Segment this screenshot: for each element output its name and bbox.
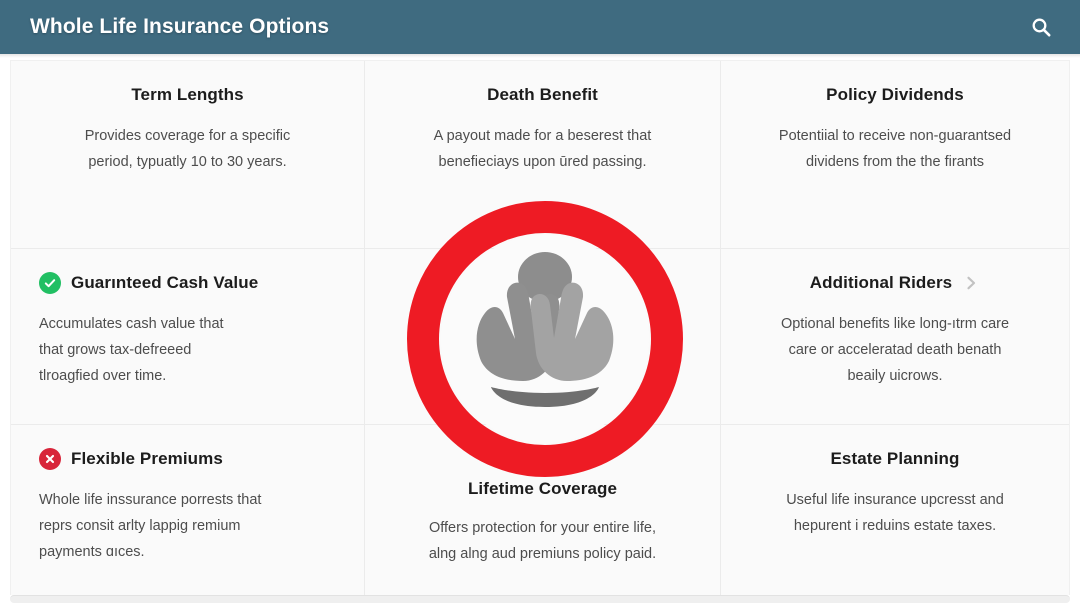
cell-title: Estate Planning <box>830 449 959 469</box>
description-line: benefieciays upon ūred passing. <box>393 149 692 175</box>
cell-description: Whole life inssurance porrests that repr… <box>39 487 336 565</box>
description-line: dividens from the the firants <box>749 149 1041 175</box>
cell-title: Term Lengths <box>131 85 243 105</box>
cell-description: Optional benefits like long-ıtrm care ca… <box>749 311 1041 389</box>
description-line: Provides coverage for a specific <box>39 123 336 149</box>
chevron-right-icon[interactable] <box>962 274 980 292</box>
cell-header: Estate Planning <box>749 447 1041 471</box>
cell-title: Flexible Premiums <box>71 449 223 469</box>
description-line: period, typuatly 10 to 30 years. <box>39 149 336 175</box>
grid-cell-term-lengths[interactable]: Term Lengths Provides coverage for a spe… <box>11 61 365 249</box>
description-line: A payout made for a beserest that <box>393 123 692 149</box>
cell-description: Offers protection for your entire life, … <box>393 515 692 567</box>
cell-header: Guarınteed Cash Value <box>39 271 336 295</box>
cell-header: Lifetime Coverage <box>393 477 692 501</box>
cell-description: Provides coverage for a specific period,… <box>39 123 336 175</box>
header-shadow <box>0 54 1080 58</box>
grid-cell-additional-riders[interactable]: Additional Riders Optional benefits like… <box>721 249 1069 425</box>
cell-header: Policy Dividends <box>749 83 1041 107</box>
grid-cell-guaranteed-cash-value[interactable]: Guarınteed Cash Value Accumulates cash v… <box>11 249 365 425</box>
description-line: alng alng aud premiuns policy paid. <box>393 541 692 567</box>
app-header: Whole Life Insurance Options <box>0 0 1080 54</box>
description-line: Useful life insurance upcresst and <box>749 487 1041 513</box>
grid-cell-lifetime-coverage[interactable]: Lifetime Coverage Offers protection for … <box>365 425 721 595</box>
cell-description: Accumulates cash value that that grows t… <box>39 311 336 389</box>
cell-header: Flexible Premiums <box>39 447 336 471</box>
cell-header: Term Lengths <box>39 83 336 107</box>
grid-cell-policy-dividends[interactable]: Policy Dividends Potentiial to receive n… <box>721 61 1069 249</box>
cell-description: Potentiial to receive non-guarantsed div… <box>749 123 1041 175</box>
grid-cell-estate-planning[interactable]: Estate Planning Useful life insurance up… <box>721 425 1069 595</box>
cell-title: Policy Dividends <box>826 85 964 105</box>
cell-title: Death Benefit <box>487 85 598 105</box>
description-line: Potentiial to receive non-guarantsed <box>749 123 1041 149</box>
feature-grid: Term Lengths Provides coverage for a spe… <box>11 61 1069 595</box>
description-line: beaily uicrows. <box>749 363 1041 389</box>
description-line: tlroagfied over time. <box>39 363 336 389</box>
grid-cell-flexible-premiums[interactable]: Flexible Premiums Whole life inssurance … <box>11 425 365 595</box>
grid-cell-death-benefit[interactable]: Death Benefit A payout made for a besere… <box>365 61 721 249</box>
page-title: Whole Life Insurance Options <box>30 15 329 39</box>
cell-title: Lifetime Coverage <box>468 479 617 499</box>
grid-cell-center-emblem <box>365 249 721 425</box>
description-line: payments ɑıces. <box>39 539 336 565</box>
x-circle-icon <box>39 448 61 470</box>
description-line: reprs consit arlty lappig remium <box>39 513 336 539</box>
bottom-edge-strip <box>0 603 1080 607</box>
horizontal-scrollbar[interactable] <box>10 595 1070 603</box>
cell-title: Guarınteed Cash Value <box>71 273 258 293</box>
check-circle-icon <box>39 272 61 294</box>
description-line: Whole life inssurance porrests that <box>39 487 336 513</box>
content-panel: Term Lengths Provides coverage for a spe… <box>10 60 1070 595</box>
search-icon[interactable] <box>1028 14 1054 40</box>
cell-header: Additional Riders <box>749 271 1041 295</box>
cell-description: Useful life insurance upcresst and hepur… <box>749 487 1041 539</box>
cell-description: A payout made for a beserest that benefi… <box>393 123 692 175</box>
description-line: Accumulates cash value that <box>39 311 336 337</box>
description-line: hepurent i reduins estate taxes. <box>749 513 1041 539</box>
description-line: care or acceleratad death benath <box>749 337 1041 363</box>
app-window: Whole Life Insurance Options Term Length… <box>0 0 1080 607</box>
cell-title: Additional Riders <box>810 273 952 293</box>
cell-header: Death Benefit <box>393 83 692 107</box>
description-line: that grows tax-defreeed <box>39 337 336 363</box>
description-line: Offers protection for your entire life, <box>393 515 692 541</box>
description-line: Optional benefits like long-ıtrm care <box>749 311 1041 337</box>
